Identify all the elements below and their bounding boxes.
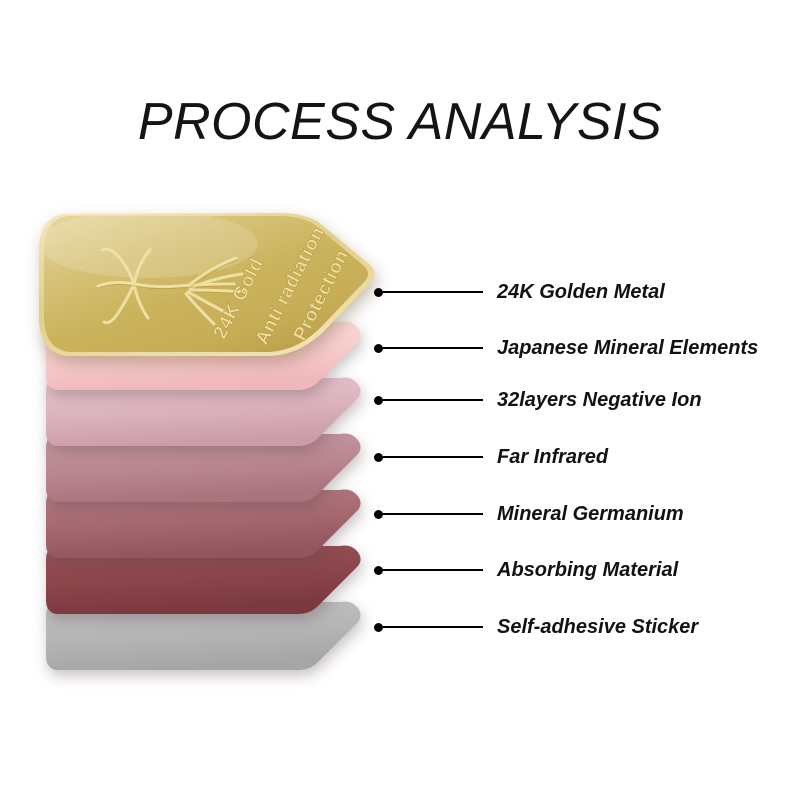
- callout-label: 32layers Negative Ion: [497, 390, 702, 410]
- callout-dot-icon: [374, 453, 383, 462]
- callout-leader-line: [383, 513, 483, 515]
- callout-leader-line: [383, 291, 483, 293]
- callout-mineral-germanium[interactable]: Mineral Germanium: [374, 499, 684, 529]
- callout-far-infrared[interactable]: Far Infrared: [374, 442, 608, 472]
- callout-absorbing-material[interactable]: Absorbing Material: [374, 555, 678, 585]
- callout-dot-icon: [374, 396, 383, 405]
- callout-24k-golden-metal[interactable]: 24K Golden Metal: [374, 277, 665, 307]
- callout-leader-line: [383, 569, 483, 571]
- callout-dot-icon: [374, 566, 383, 575]
- callout-label: Far Infrared: [497, 447, 608, 467]
- callout-leader-line: [383, 626, 483, 628]
- callout-label: Mineral Germanium: [497, 504, 684, 524]
- callout-leader-line: [383, 456, 483, 458]
- callout-dot-icon: [374, 510, 383, 519]
- callout-self-adhesive-sticker[interactable]: Self-adhesive Sticker: [374, 612, 698, 642]
- callout-label: Absorbing Material: [497, 560, 678, 580]
- callout-32layers-negative-ion[interactable]: 32layers Negative Ion: [374, 385, 702, 415]
- callout-dot-icon: [374, 623, 383, 632]
- callout-dot-icon: [374, 288, 383, 297]
- callout-list: 24K Golden Metal Japanese Mineral Elemen…: [0, 0, 800, 800]
- callout-dot-icon: [374, 344, 383, 353]
- callout-leader-line: [383, 347, 483, 349]
- callout-label: Self-adhesive Sticker: [497, 617, 698, 637]
- callout-japanese-mineral-elements[interactable]: Japanese Mineral Elements: [374, 333, 758, 363]
- callout-label: 24K Golden Metal: [497, 282, 665, 302]
- callout-leader-line: [383, 399, 483, 401]
- diagram-canvas: PROCESS ANALYSIS: [0, 0, 800, 800]
- callout-label: Japanese Mineral Elements: [497, 338, 758, 358]
